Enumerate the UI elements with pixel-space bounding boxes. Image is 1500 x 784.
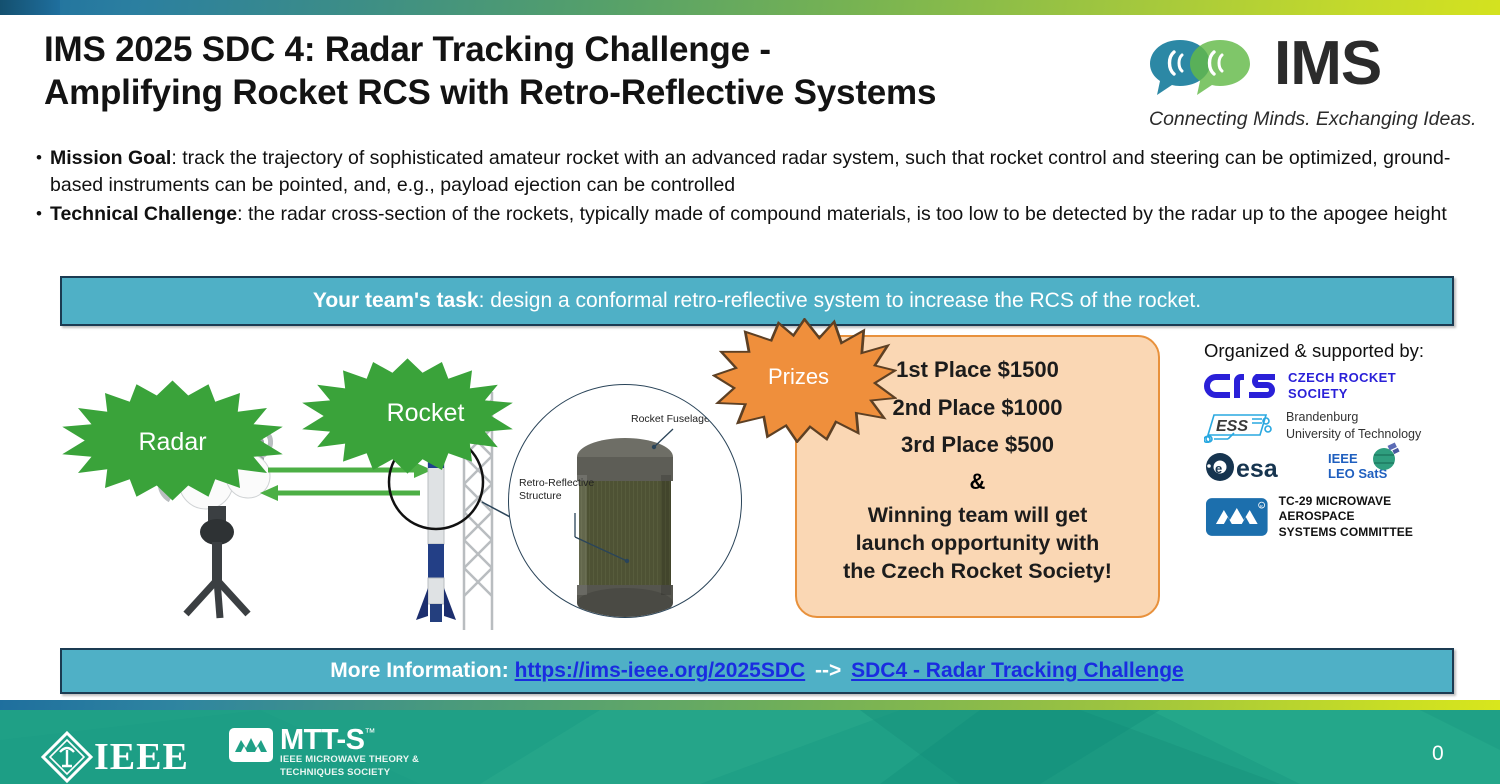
- radar-label: Radar: [138, 428, 206, 457]
- rocket-label: Rocket: [387, 399, 465, 428]
- mtts-sub-line1: IEEE MICROWAVE THEORY &: [280, 754, 419, 767]
- ims-logo: IMS Connecting Minds. Exchanging Ideas.: [1148, 32, 1470, 137]
- prizes-badge-burst: Prizes: [712, 318, 897, 443]
- magnifier-detail-circle: Rocket Fuselage Retro-Reflective Structu…: [508, 384, 742, 618]
- ims-speech-bubbles-icon: [1148, 38, 1268, 98]
- mtts-wordmark: MTT-S: [280, 726, 365, 754]
- mtts-mark-icon: [228, 726, 274, 766]
- prizes-badge-label: Prizes: [768, 364, 829, 390]
- sdc4-challenge-link[interactable]: SDC4 - Radar Tracking Challenge: [851, 659, 1184, 682]
- sponsor-esa-leosats: e esa IEEE LEO SatS: [1204, 450, 1469, 484]
- prize-line: 3rd Place $500: [901, 431, 1054, 459]
- crs-name-line2: SOCIETY: [1288, 386, 1396, 402]
- ims-tagline: Connecting Minds. Exchanging Ideas.: [1149, 108, 1476, 131]
- bullet-dot-icon: •: [28, 145, 50, 198]
- mtts-logo: MTT-S ™ IEEE MICROWAVE THEORY & TECHNIQU…: [228, 726, 419, 780]
- ess-logo-icon: ESS: [1204, 409, 1276, 443]
- prizes-winner-line2: launch opportunity with: [843, 530, 1112, 558]
- title-line-2: Amplifying Rocket RCS with Retro-Reflect…: [44, 71, 1134, 114]
- slide: IMS 2025 SDC 4: Radar Tracking Challenge…: [0, 0, 1500, 784]
- footer: IEEE MTT-S ™ IEEE MICROWAVE THEORY & TEC…: [0, 700, 1500, 784]
- task-banner-text: : design a conformal retro-reflective sy…: [479, 289, 1201, 312]
- sponsor-czech-rocket-society: CZECH ROCKET SOCIETY: [1204, 370, 1469, 402]
- ims-wordmark: IMS: [1274, 30, 1381, 98]
- svg-text:R: R: [1260, 504, 1263, 509]
- svg-text:ESS: ESS: [1216, 418, 1248, 435]
- prizes-winner-line1: Winning team will get: [843, 502, 1112, 530]
- footer-gradient-strip: [0, 700, 1500, 710]
- list-item: • Mission Goal: track the trajectory of …: [28, 145, 1468, 198]
- radar-callout-burst: Radar: [60, 378, 285, 503]
- rocket-section-3d: [577, 438, 673, 617]
- leosats-globe-satellite-icon: [1368, 440, 1402, 474]
- tc29-mtt-logo-icon: R: [1204, 496, 1270, 538]
- ieee-logo: IEEE: [40, 730, 189, 784]
- mtts-trademark-icon: ™: [365, 727, 376, 739]
- crs-logo-icon: [1204, 371, 1280, 401]
- tc29-name-line2: SYSTEMS COMMITTEE: [1279, 525, 1469, 541]
- sponsors-heading: Organized & supported by:: [1204, 340, 1469, 362]
- footer-background: [0, 710, 1500, 784]
- sponsors-panel: Organized & supported by: CZECH ROCKET S…: [1204, 340, 1469, 595]
- prizes-ampersand: &: [970, 469, 986, 495]
- fuselage-label: Rocket Fuselage: [631, 413, 710, 426]
- ieee-diamond-icon: [40, 730, 94, 784]
- top-accent-bar: [0, 0, 1500, 15]
- retro-structure-label-line1: Retro-Reflective: [519, 477, 594, 490]
- footer-facets: [0, 710, 1500, 784]
- page-title: IMS 2025 SDC 4: Radar Tracking Challenge…: [44, 28, 1134, 115]
- link-separator: -->: [811, 659, 845, 682]
- svg-text:esa: esa: [1236, 455, 1279, 483]
- bullet-dot-icon: •: [28, 201, 50, 228]
- list-item: • Technical Challenge: the radar cross-s…: [28, 201, 1468, 228]
- prizes-winner-line3: the Czech Rocket Society!: [843, 558, 1112, 586]
- sponsor-brandenburg-ess: ESS Brandenburg University of Technology: [1204, 409, 1469, 443]
- retro-structure-label-line2: Structure: [519, 490, 594, 503]
- bullet-lead: Mission Goal: [50, 147, 171, 169]
- prize-line: 1st Place $1500: [896, 356, 1059, 384]
- bullet-text: : track the trajectory of sophisticated …: [50, 147, 1450, 196]
- title-line-1: IMS 2025 SDC 4: Radar Tracking Challenge…: [44, 28, 1134, 71]
- bullet-lead: Technical Challenge: [50, 203, 237, 225]
- ess-name-line1: Brandenburg: [1286, 409, 1421, 425]
- bullet-list: • Mission Goal: track the trajectory of …: [28, 145, 1468, 231]
- svg-text:e: e: [1215, 461, 1222, 476]
- bullet-text: : the radar cross-section of the rockets…: [237, 203, 1447, 225]
- more-info-lead: More Information:: [330, 659, 509, 682]
- tc29-name-line1: TC-29 MICROWAVE AEROSPACE: [1279, 494, 1469, 525]
- crs-name-line1: CZECH ROCKET: [1288, 370, 1396, 386]
- sponsor-tc29[interactable]: R TC-29 MICROWAVE AEROSPACE SYSTEMS COMM…: [1204, 494, 1469, 541]
- task-banner-lead: Your team's task: [313, 289, 479, 312]
- more-information-banner: More Information: https://ims-ieee.org/2…: [60, 648, 1454, 694]
- prize-line: 2nd Place $1000: [892, 394, 1062, 422]
- ieee-wordmark: IEEE: [94, 735, 189, 779]
- mtts-sub-line2: TECHNIQUES SOCIETY: [280, 767, 419, 780]
- sdc-main-link[interactable]: https://ims-ieee.org/2025SDC: [515, 659, 806, 682]
- esa-logo-icon: e esa: [1204, 450, 1324, 484]
- page-number: 0: [1432, 742, 1444, 766]
- rocket-callout-burst: Rocket: [300, 356, 515, 476]
